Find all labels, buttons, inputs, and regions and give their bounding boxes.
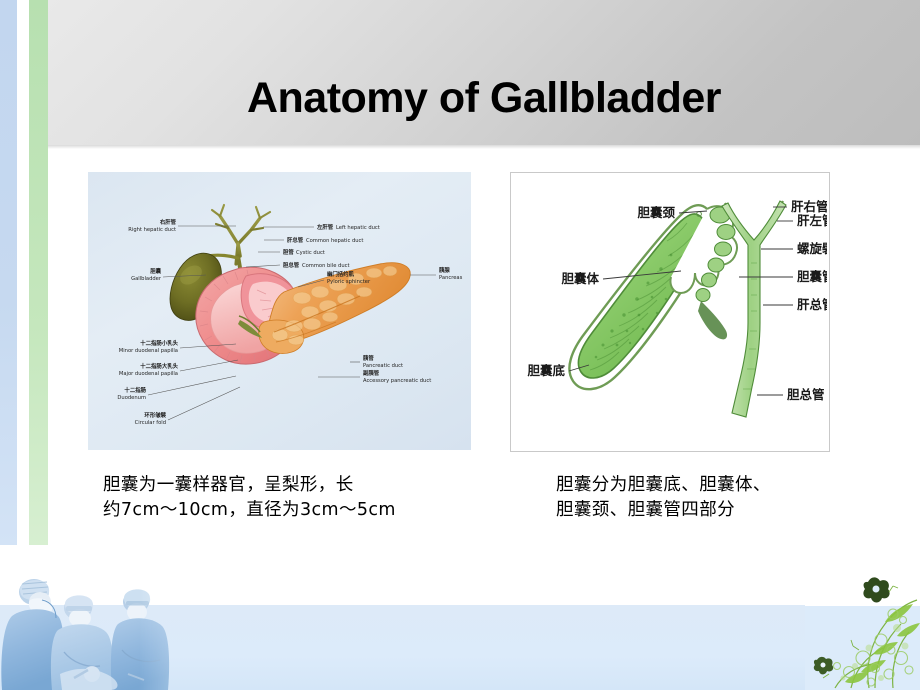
page-title: Anatomy of Gallbladder (48, 76, 920, 121)
caption-left-line1: 胆囊为一囊样器官，呈梨形，长 (103, 473, 463, 498)
left-accent-bar-blue (0, 0, 17, 545)
svg-text:Minor duodenal papilla: Minor duodenal papilla (119, 348, 178, 354)
caption-right-line1: 胆囊分为胆囊底、胆囊体、 (556, 473, 886, 498)
svg-text:Left hepatic duct: Left hepatic duct (336, 225, 380, 231)
svg-text:Circular fold: Circular fold (135, 420, 166, 426)
title-banner-shadow (48, 145, 920, 149)
svg-text:Common bile duct: Common bile duct (302, 263, 350, 269)
svg-text:肝右管: 肝右管 (791, 199, 827, 214)
caption-right-line2: 胆囊颈、胆囊管四部分 (556, 498, 886, 523)
left-accent-bar-green (29, 0, 48, 545)
svg-text:胆囊体: 胆囊体 (561, 271, 599, 286)
svg-text:胰腺: 胰腺 (438, 266, 450, 274)
svg-text:肝总管: 肝总管 (287, 236, 304, 244)
svg-text:环形皱襞: 环形皱襞 (144, 411, 166, 419)
svg-text:胆管: 胆管 (282, 248, 294, 256)
svg-text:Right hepatic duct: Right hepatic duct (128, 227, 176, 233)
svg-text:Gallbladder: Gallbladder (131, 276, 162, 282)
svg-text:十二指肠小乳头: 十二指肠小乳头 (140, 339, 178, 347)
svg-text:胆囊底: 胆囊底 (527, 363, 565, 378)
svg-text:胆囊管: 胆囊管 (797, 269, 827, 284)
svg-text:Pancreas: Pancreas (439, 275, 463, 281)
caption-right: 胆囊分为胆囊底、胆囊体、 胆囊颈、胆囊管四部分 (556, 473, 886, 524)
svg-text:Pyloric sphincter: Pyloric sphincter (327, 279, 371, 285)
svg-text:Common hepatic duct: Common hepatic duct (306, 238, 363, 244)
caption-left-line2: 约7cm～10cm，直径为3cm～5cm (103, 498, 463, 523)
caption-left: 胆囊为一囊样器官，呈梨形，长 约7cm～10cm，直径为3cm～5cm (103, 473, 463, 524)
svg-text:肝左管: 肝左管 (797, 213, 827, 228)
svg-text:肝总管: 肝总管 (797, 297, 827, 312)
svg-text:胆总管: 胆总管 (282, 261, 300, 269)
surgeons-photo (0, 556, 225, 690)
svg-text:Duodenum: Duodenum (117, 395, 146, 401)
svg-text:Cystic duct: Cystic duct (296, 250, 325, 256)
svg-text:副胰管: 副胰管 (363, 369, 380, 377)
svg-text:十二指肠大乳头: 十二指肠大乳头 (140, 362, 178, 370)
svg-text:胰管: 胰管 (362, 354, 374, 362)
svg-text:胆囊: 胆囊 (149, 267, 161, 275)
svg-text:十二指肠: 十二指肠 (124, 386, 146, 394)
svg-text:Major duodenal papilla: Major duodenal papilla (119, 371, 178, 377)
svg-text:Accessory pancreatic duct: Accessory pancreatic duct (363, 378, 431, 384)
svg-text:Pancreatic duct: Pancreatic duct (363, 363, 403, 369)
svg-text:螺旋襞: 螺旋襞 (797, 241, 827, 256)
title-banner (48, 0, 920, 145)
svg-text:胆囊颈: 胆囊颈 (637, 205, 675, 220)
svg-text:胆总管: 胆总管 (787, 387, 825, 402)
slide-canvas: Anatomy of Gallbladder (0, 0, 920, 690)
figure-gallbladder-parts: 胆囊颈 胆囊体 胆囊底 肝右管 肝左管 螺旋襞 胆囊管 肝总管 胆总管 (510, 172, 830, 452)
svg-text:右肝管: 右肝管 (160, 218, 177, 226)
svg-text:幽门括约肌: 幽门括约肌 (327, 270, 355, 278)
svg-text:左肝管: 左肝管 (316, 223, 334, 231)
figure-biliary-pancreatic-anatomy: 右肝管 Right hepatic duct 胆囊 Gallbladder 十二… (88, 172, 471, 450)
floral-ornament (805, 562, 920, 690)
